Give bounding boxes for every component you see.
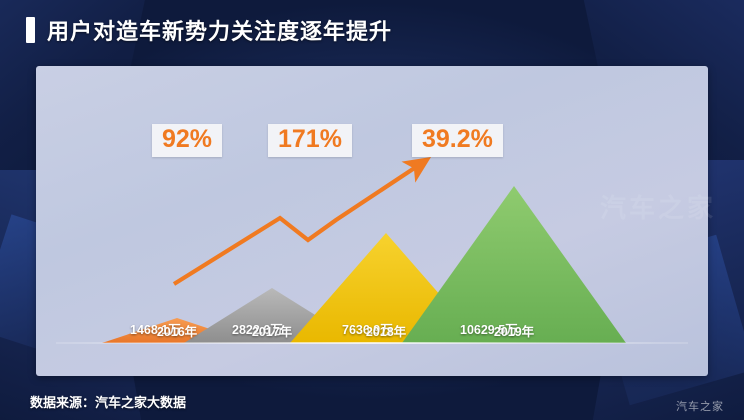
growth-label-2018: 171% bbox=[268, 124, 352, 157]
slide-canvas: 用户对造车新势力关注度逐年提升 bbox=[0, 0, 744, 420]
source-note: 数据来源：汽车之家大数据 bbox=[30, 392, 186, 411]
baseline-axis bbox=[56, 342, 688, 344]
x-tick-2019: 2019年 bbox=[466, 321, 562, 340]
x-tick-2016: 2016年 bbox=[129, 321, 225, 340]
growth-label-2017: 92% bbox=[152, 124, 222, 157]
x-tick-2018: 2018年 bbox=[338, 321, 434, 340]
x-tick-2017: 2017年 bbox=[224, 321, 320, 340]
page-title: 用户对造车新势力关注度逐年提升 bbox=[47, 14, 392, 46]
title-marker bbox=[26, 17, 35, 43]
growth-label-2019: 39.2% bbox=[412, 124, 503, 157]
title-bar: 用户对造车新势力关注度逐年提升 bbox=[0, 8, 744, 52]
watermark-footer: 汽车之家 bbox=[676, 398, 724, 414]
chart-panel: 92% 171% 39.2% 1468.1万 2822.6万 7636.9万 1… bbox=[36, 66, 708, 376]
